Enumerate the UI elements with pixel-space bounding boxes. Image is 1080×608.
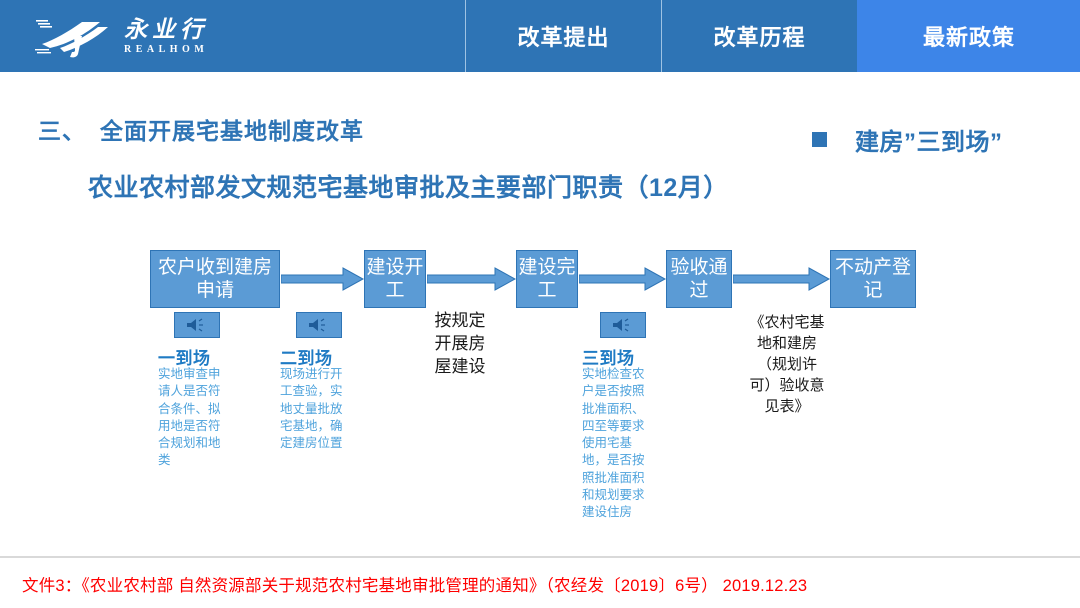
tab-reform-proposal[interactable]: 改革提出 [465, 0, 661, 72]
brand-wordmark: 永业行 REALHOM [124, 18, 208, 55]
flow-box-construction-complete[interactable]: 建设完工 [516, 250, 578, 308]
brand-logo[interactable]: 永业行 REALHOM [34, 12, 208, 60]
flow-arrow-3 [579, 265, 667, 293]
footer-divider [0, 556, 1080, 558]
callout-text: 建房”三到场” [855, 122, 1003, 157]
section-number: 三、 [38, 118, 86, 144]
flow-box-construction-start[interactable]: 建设开工 [364, 250, 426, 308]
column-text-acceptance-form: 《农村宅基地和建房（规划许可）验收意见表》 [748, 312, 826, 417]
column-text-build-per-regulation: 按规定开展房屋建设 [430, 310, 490, 379]
flow-box-application[interactable]: 农户收到建房申请 [150, 250, 280, 308]
column-body-third-visit: 实地检查农户是否按照批准面积、四至等要求使用宅基地，是否按照批准面积和规划要求建… [582, 366, 656, 521]
page-header: 永业行 REALHOM 改革提出 改革历程 最新政策 [0, 0, 1080, 72]
tab-reform-history[interactable]: 改革历程 [661, 0, 857, 72]
column-body-first-visit: 实地审查申请人是否符合条件、拟用地是否符合规划和地类 [158, 366, 230, 470]
square-bullet-icon [812, 132, 827, 147]
speaker-icon-step-1[interactable] [174, 312, 220, 338]
callout-block: 建房”三到场” [812, 122, 1003, 157]
top-nav: 改革提出 改革历程 最新政策 [465, 0, 1080, 72]
speaker-icon [611, 317, 635, 333]
flow-box-inspection-passed[interactable]: 验收通过 [666, 250, 732, 308]
column-body-second-visit: 现场进行开工查验，实地丈量批放宅基地，确定建房位置 [280, 366, 346, 452]
realhom-swoosh-logo-icon [34, 14, 112, 58]
flow-arrow-4 [733, 265, 831, 293]
speaker-icon-step-2[interactable] [296, 312, 342, 338]
footer-source-note: 文件3：《农业农村部 自然资源部关于规范农村宅基地审批管理的通知》（农经发〔20… [22, 572, 1062, 596]
speaker-icon-step-3[interactable] [600, 312, 646, 338]
subtitle: 农业农村部发文规范宅基地审批及主要部门职责（12月） [88, 168, 729, 204]
speaker-icon [307, 317, 331, 333]
section-heading: 三、全面开展宅基地制度改革 [38, 112, 364, 146]
brand-name-cn: 永业行 [124, 18, 208, 41]
flow-arrow-2 [427, 265, 517, 293]
section-title: 全面开展宅基地制度改革 [100, 118, 364, 144]
speaker-icon [185, 317, 209, 333]
slide-canvas: 永业行 REALHOM 改革提出 改革历程 最新政策 三、全面开展宅基地制度改革… [0, 0, 1080, 608]
brand-name-en: REALHOM [124, 45, 208, 55]
process-flow-diagram: 农户收到建房申请 建设开工 建设完工 验收通过 不动产登记 [0, 0, 1080, 608]
flow-box-property-registration[interactable]: 不动产登记 [830, 250, 916, 308]
tab-latest-policy[interactable]: 最新政策 [857, 0, 1080, 72]
flow-arrow-1 [281, 265, 365, 293]
